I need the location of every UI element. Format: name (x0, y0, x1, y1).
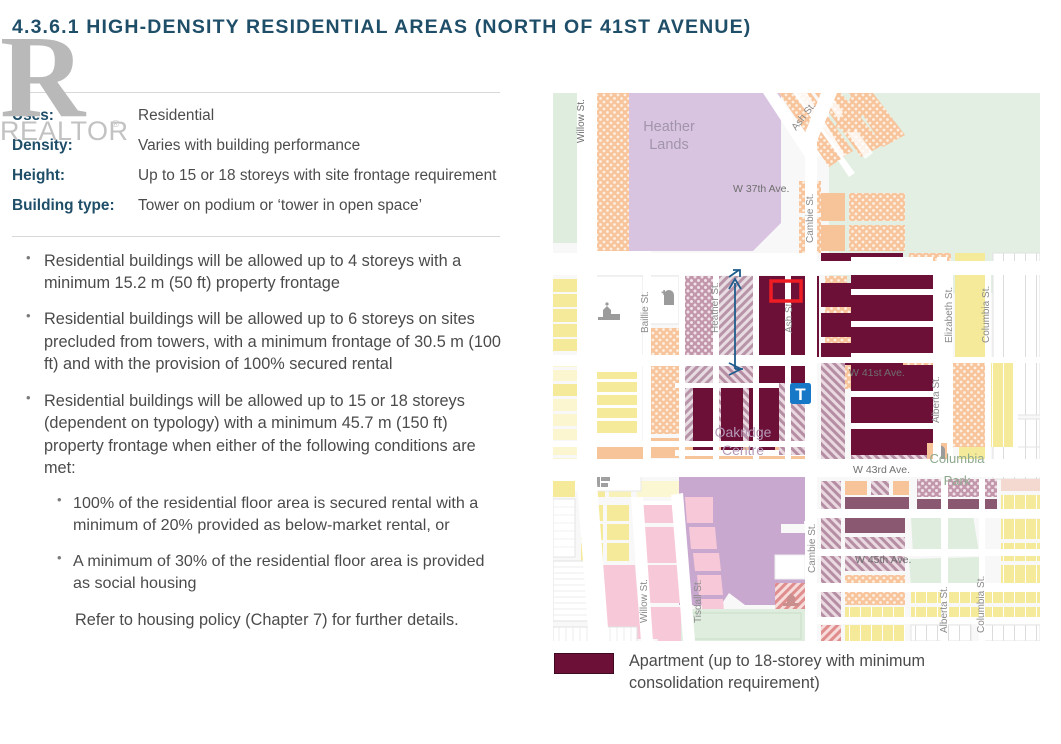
map-street-label: Ash St. (784, 301, 795, 333)
map-street-label: Columbia St. (976, 576, 987, 633)
map-legend: Apartment (up to 18-storey with minimum … (554, 651, 999, 694)
list-item-text: Residential buildings will be allowed up… (44, 392, 476, 477)
map-area-label: Centre (722, 442, 764, 458)
spec-label-uses: Uses: (12, 105, 138, 135)
spec-label-density: Density: (12, 135, 138, 165)
spec-value-building-type: Tower on podium or ‘tower in open space’ (138, 195, 504, 225)
spec-row-building-type: Building type: Tower on podium or ‘tower… (12, 195, 504, 225)
spec-label-height: Height: (12, 165, 138, 195)
spec-table: Uses: Residential Density: Varies with b… (12, 105, 504, 225)
list-item: A minimum of 30% of the residential floo… (44, 550, 504, 594)
map-street-label: Cambie St. (807, 524, 818, 573)
map-street-label: Tisdall St. (693, 579, 704, 623)
divider-bottom (12, 236, 500, 237)
spec-row-uses: Uses: Residential (12, 105, 504, 135)
map-street-label: W 45th Ave. (855, 554, 911, 566)
list-item: Residential buildings will be allowed up… (12, 390, 504, 631)
page-title: 4.3.6.1 HIGH-DENSITY RESIDENTIAL AREAS (… (12, 16, 751, 39)
transit-station-icon: T (790, 383, 811, 404)
map-street-label: Cambie St. (805, 194, 816, 243)
map-street-label: Willow St. (639, 579, 650, 623)
map-street-label: W 37th Ave. (733, 183, 789, 195)
map-area-label: Park (944, 473, 971, 488)
map-street-label: Willow St. (576, 99, 587, 143)
map-street-label: W 43rd Ave. (853, 464, 910, 476)
list-item: Residential buildings will be allowed up… (12, 308, 504, 375)
map-street-label: Alberta St. (931, 376, 942, 423)
map-street-label: Elizabeth St. (944, 287, 955, 343)
land-use-map[interactable]: Heather Lands Oakridge Centre Columbia P… (553, 93, 1040, 641)
spec-value-density: Varies with building performance (138, 135, 504, 165)
map-area-label: Heather (643, 119, 695, 135)
spec-row-height: Height: Up to 15 or 18 storeys with site… (12, 165, 504, 195)
list-item: 100% of the residential floor area is se… (44, 492, 504, 536)
policy-text-column: Uses: Residential Density: Varies with b… (12, 92, 512, 645)
list-item: Residential buildings will be allowed up… (12, 250, 504, 295)
apartment-bars-east (851, 265, 933, 353)
map-street-label: Columbia St. (981, 286, 992, 343)
closing-note: Refer to housing policy (Chapter 7) for … (75, 609, 504, 631)
map-street-label: Alberta St. (939, 586, 950, 633)
map-street-label: Heather St. (710, 282, 721, 333)
policy-bullet-list: Residential buildings will be allowed up… (12, 250, 512, 632)
svg-text:T: T (795, 385, 806, 404)
legend-swatch-apartment (554, 653, 614, 674)
map-area-label: Lands (649, 137, 689, 153)
spec-label-building-type: Building type: (12, 195, 138, 225)
spec-value-uses: Residential (138, 105, 504, 135)
divider-top (12, 92, 500, 93)
map-canvas[interactable]: Heather Lands Oakridge Centre Columbia P… (553, 93, 1040, 641)
map-street-label: W 41st Ave. (849, 367, 905, 379)
spec-row-density: Density: Varies with building performanc… (12, 135, 504, 165)
policy-sub-bullet-list: 100% of the residential floor area is se… (44, 492, 504, 595)
map-area-label: Columbia (930, 451, 986, 466)
legend-label-apartment: Apartment (up to 18-storey with minimum … (629, 651, 999, 694)
map-street-label: Baillie St. (640, 291, 651, 333)
spec-value-height: Up to 15 or 18 storeys with site frontag… (138, 165, 504, 195)
map-area-label: Oakridge (715, 424, 772, 440)
document-page: R REALTOR ® 4.3.6.1 HIGH-DENSITY RESIDEN… (0, 0, 1061, 744)
